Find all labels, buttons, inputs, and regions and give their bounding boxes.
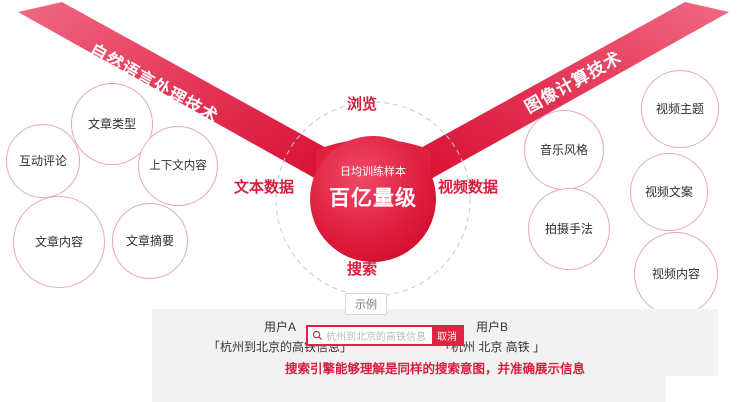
bubble-music-style-label: 音乐风格	[534, 143, 594, 158]
bubble-interactive-comment: 互动评论	[6, 124, 80, 198]
bubble-video-copy: 视频文案	[630, 153, 708, 231]
bubble-context-content-label: 上下文内容	[143, 159, 213, 173]
core-line1: 日均训练样本	[324, 163, 422, 179]
bubble-video-theme: 视频主题	[641, 70, 719, 148]
diagram-canvas: 自然语言处理技术 图像计算技术 日均训练样本 百亿量级 浏览 搜索 文本数据 视…	[0, 0, 747, 402]
bubble-interactive-comment-label: 互动评论	[13, 154, 73, 169]
bubble-music-style: 音乐风格	[524, 110, 604, 190]
bubble-video-content-label: 视频内容	[646, 267, 706, 282]
bubble-shooting-technique-label: 拍摄手法	[539, 222, 599, 237]
bubble-article-type-label: 文章类型	[82, 117, 142, 132]
core-line2: 百亿量级	[311, 182, 435, 212]
right-category-label: 视频数据	[438, 176, 498, 197]
core-top-label: 浏览	[347, 93, 377, 114]
bubble-article-content: 文章内容	[13, 196, 105, 288]
bubble-article-summary: 文章摘要	[112, 203, 188, 279]
bubble-article-summary-label: 文章摘要	[120, 234, 180, 249]
example-tag: 示例	[345, 293, 387, 315]
search-box[interactable]: 杭州到北京的高铁信息 取消	[306, 325, 464, 346]
bubble-video-theme-label: 视频主题	[650, 102, 710, 117]
panel-corner-cut	[666, 376, 718, 402]
example-note: 搜索引擎能够理解是同样的搜索意图，并准确展示信息	[152, 358, 718, 377]
bubble-video-copy-label: 视频文案	[639, 185, 699, 200]
core-bottom-label: 搜索	[347, 258, 377, 279]
left-category-label: 文本数据	[234, 176, 294, 197]
bubble-article-content-label: 文章内容	[29, 235, 89, 250]
search-icon	[312, 330, 323, 341]
bubble-video-content: 视频内容	[634, 232, 718, 316]
bubble-shooting-technique: 拍摄手法	[528, 188, 610, 270]
search-cancel-button[interactable]: 取消	[432, 327, 462, 344]
search-input[interactable]: 杭州到北京的高铁信息	[326, 328, 432, 343]
bubble-context-content: 上下文内容	[138, 126, 218, 206]
